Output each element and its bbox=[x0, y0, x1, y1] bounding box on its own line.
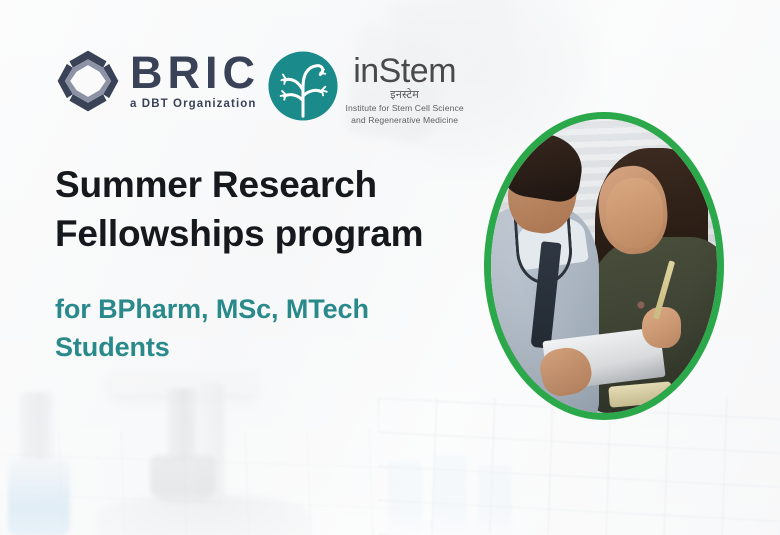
subheading: for BPharm, MSc, MTech Students bbox=[55, 290, 455, 367]
hexagon-ring-icon bbox=[55, 48, 121, 114]
students-photo bbox=[491, 119, 717, 413]
instem-name-hindi: इनस्टेम bbox=[390, 89, 419, 101]
instem-subtitle-line2: and Regenerative Medicine bbox=[351, 115, 458, 125]
headline-line-2: Fellowships program bbox=[55, 209, 475, 258]
bric-logo: BRIC a DBT Organization bbox=[55, 48, 261, 114]
photo-vignette bbox=[491, 119, 717, 413]
instem-name: inStem bbox=[353, 54, 456, 88]
bric-name: BRIC bbox=[130, 52, 261, 95]
instem-logo: inStem इनस्टेम Institute for Stem Cell S… bbox=[267, 50, 464, 126]
instem-subtitle: Institute for Stem Cell Science and Rege… bbox=[346, 103, 464, 126]
subheading-line-2: Students bbox=[55, 328, 455, 366]
headline-line-1: Summer Research bbox=[55, 160, 475, 209]
instem-tree-circle-icon bbox=[267, 50, 339, 122]
bric-wordmark: BRIC a DBT Organization bbox=[130, 52, 261, 111]
promotional-banner: BRIC a DBT Organization bbox=[0, 0, 780, 535]
bric-tagline: a DBT Organization bbox=[130, 98, 261, 110]
headline: Summer Research Fellowships program bbox=[55, 160, 475, 258]
students-photo-oval bbox=[484, 112, 724, 420]
logo-row: BRIC a DBT Organization bbox=[55, 48, 464, 126]
subheading-line-1: for BPharm, MSc, MTech bbox=[55, 290, 455, 328]
instem-wordmark: inStem इनस्टेम Institute for Stem Cell S… bbox=[346, 50, 464, 126]
instem-subtitle-line1: Institute for Stem Cell Science bbox=[346, 103, 464, 113]
